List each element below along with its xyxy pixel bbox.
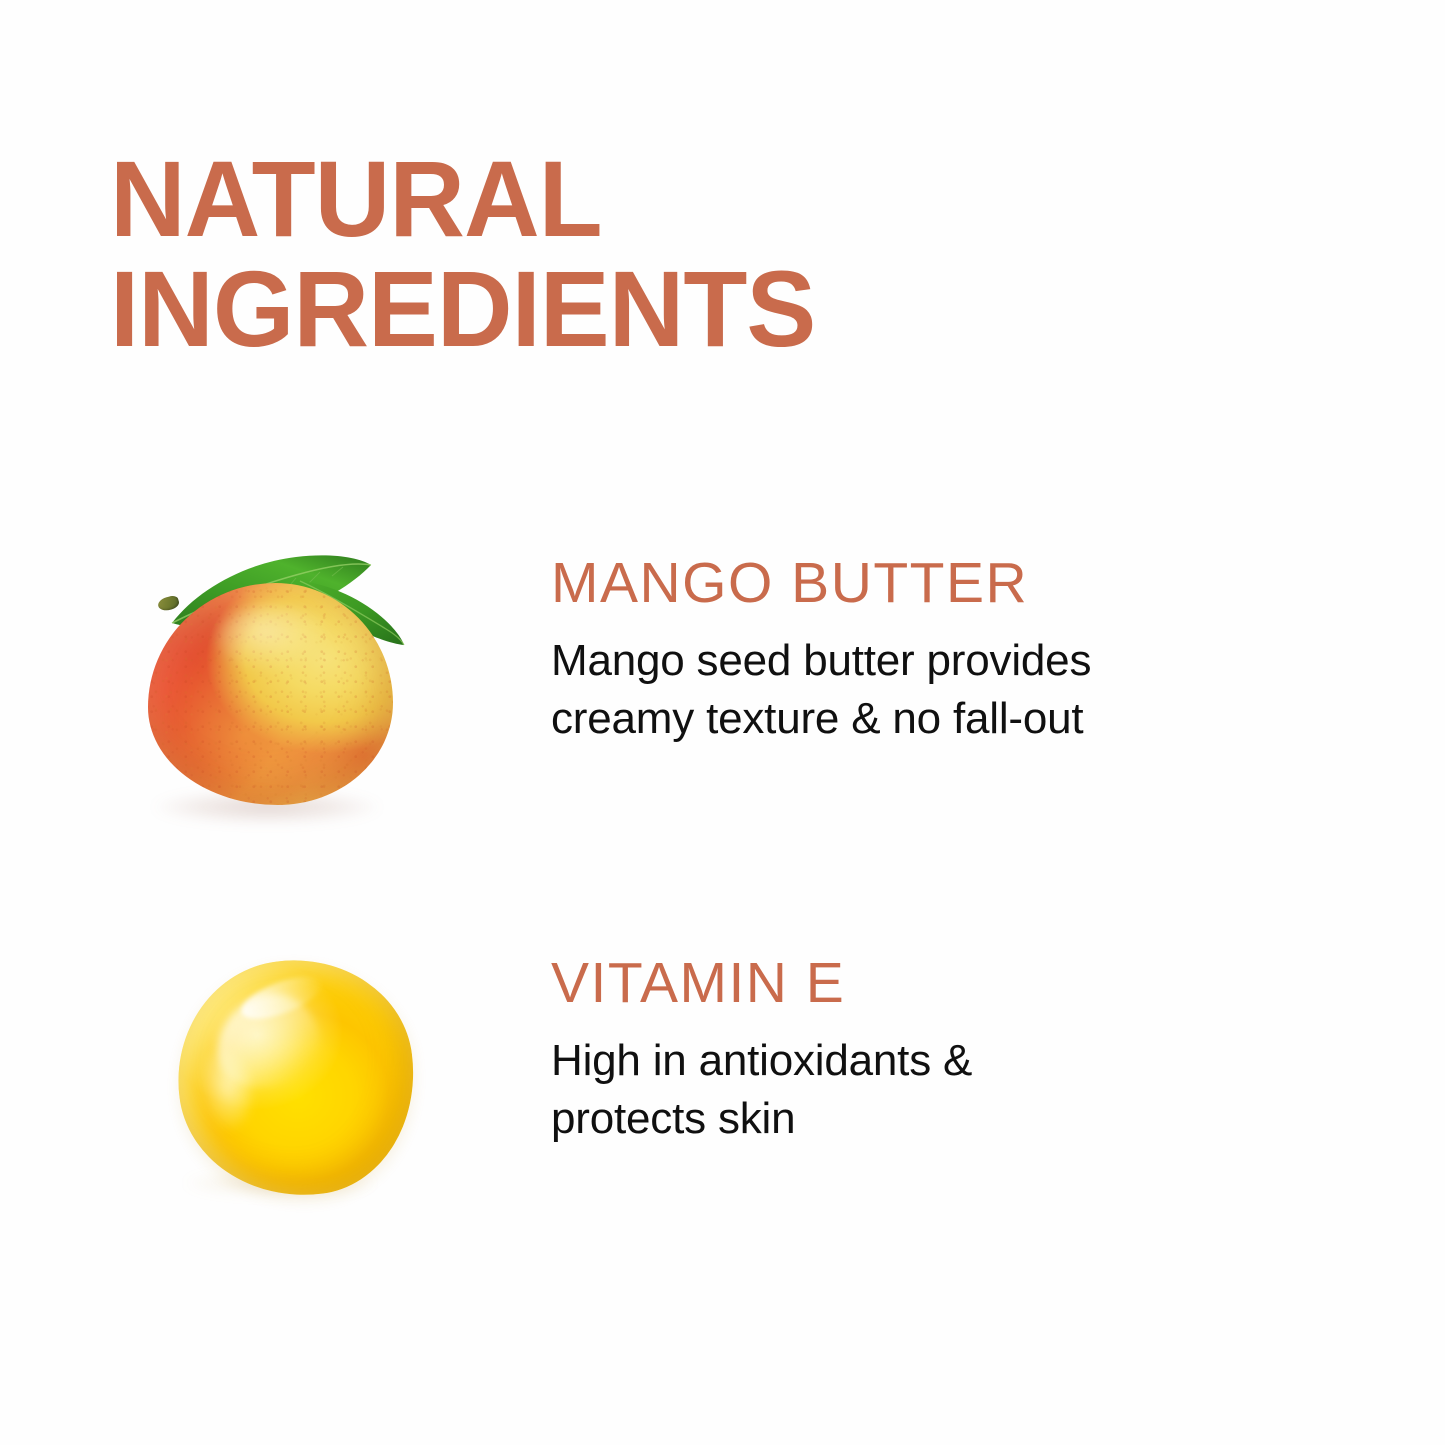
page-title-line-2: INGREDIENTS bbox=[110, 254, 983, 364]
ingredient-image-vitamin-e bbox=[130, 930, 440, 1230]
page-title: NATURAL INGREDIENTS bbox=[110, 144, 983, 364]
ingredient-description-mango-butter: Mango seed butter provides creamy textur… bbox=[551, 632, 1241, 748]
vitamin-e-oil-droplet-photo bbox=[130, 930, 440, 1230]
page-title-line-1: NATURAL bbox=[110, 144, 983, 254]
ingredient-row-mango-butter: MANGO BUTTER Mango seed butter provides … bbox=[0, 535, 1445, 835]
ingredient-title-vitamin-e: VITAMIN E bbox=[551, 952, 845, 1014]
ingredient-title-mango-butter: MANGO BUTTER bbox=[551, 552, 1028, 614]
ingredient-description-line-1: Mango seed butter provides bbox=[551, 636, 1091, 685]
ingredient-description-line-1: High in antioxidants & bbox=[551, 1036, 972, 1085]
mango-highlight bbox=[217, 605, 330, 672]
ingredient-description-line-2: protects skin bbox=[551, 1094, 795, 1143]
mango-fruit-photo bbox=[130, 535, 440, 835]
ingredient-description-vitamin-e: High in antioxidants & protects skin bbox=[551, 1032, 1151, 1148]
ingredient-description-line-2: creamy texture & no fall-out bbox=[551, 694, 1083, 743]
ingredient-image-mango bbox=[130, 535, 440, 835]
oil-droplet-shape bbox=[164, 946, 427, 1209]
ingredient-row-vitamin-e: VITAMIN E High in antioxidants & protect… bbox=[0, 930, 1445, 1230]
ingredients-infographic: NATURAL INGREDIENTS bbox=[0, 0, 1445, 1445]
